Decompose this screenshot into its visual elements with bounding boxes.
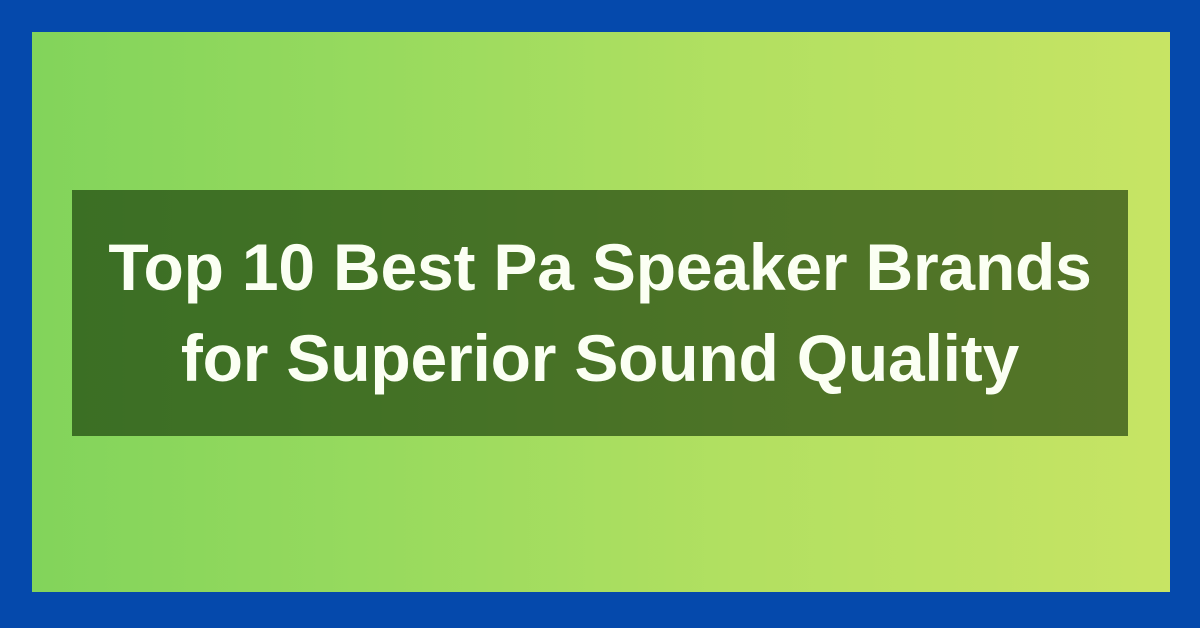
page-title: Top 10 Best Pa Speaker Brands for Superi… [72,222,1128,404]
poster-canvas: Top 10 Best Pa Speaker Brands for Superi… [0,0,1200,628]
gradient-background-panel: Top 10 Best Pa Speaker Brands for Superi… [32,32,1170,592]
title-overlay-plate: Top 10 Best Pa Speaker Brands for Superi… [72,190,1128,436]
